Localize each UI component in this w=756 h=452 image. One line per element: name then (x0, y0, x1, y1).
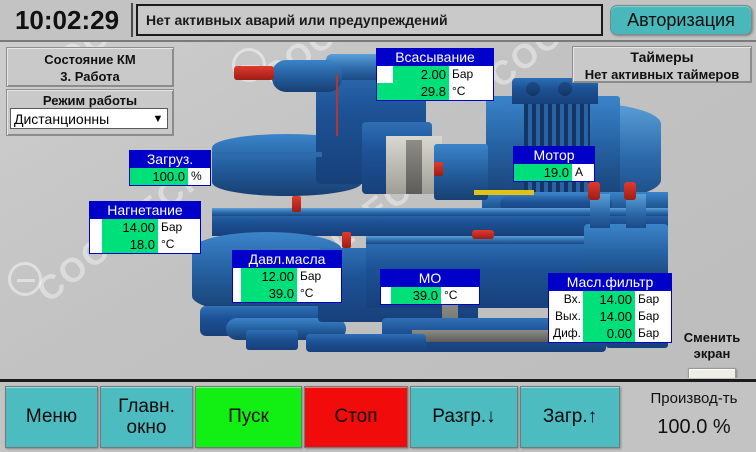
spacer (381, 287, 391, 304)
oil-filter-diff-unit: Бар (635, 325, 671, 342)
change-screen-label-line2: экран (672, 346, 752, 362)
spacer (233, 268, 241, 285)
panel-suction-row: 2.00 Бар (377, 66, 493, 83)
oil-temp-value: 39.0 (241, 285, 297, 302)
oil-filter-in-value: 14.00 (583, 291, 635, 308)
oil-pressure-value: 12.00 (241, 268, 297, 285)
panel-discharge-row: 18.0 °C (90, 236, 200, 253)
mode-title: Режим работы (7, 92, 173, 109)
alarm-status-text: Нет активных аварий или предупреждений (138, 12, 448, 28)
main-window-button[interactable]: Главн. окно (100, 386, 193, 448)
panel-suction-row: 29.8 °C (377, 83, 493, 100)
panel-discharge[interactable]: Нагнетание 14.00 Бар 18.0 °C (89, 201, 201, 254)
oil-filter-in-unit: Бар (635, 291, 671, 308)
panel-discharge-row: 14.00 Бар (90, 219, 200, 236)
timers-box: Таймеры Нет активных таймеров (572, 46, 752, 83)
mo-temp-unit: °C (441, 287, 479, 304)
spacer (90, 236, 102, 253)
panel-suction-title: Всасывание (377, 49, 493, 66)
panel-mo-row: 39.0 °C (381, 287, 479, 304)
authorization-button[interactable]: Авторизация (610, 5, 752, 35)
motor-current-value: 19.0 (514, 164, 572, 181)
spacer (233, 285, 241, 302)
oil-pressure-unit: Бар (297, 268, 341, 285)
load-button[interactable]: Загр.↑ (520, 386, 620, 448)
unload-button[interactable]: Разгр.↓ (410, 386, 518, 448)
panel-load-title: Загруз. (130, 151, 210, 168)
panel-load[interactable]: Загруз. 100.0 % (129, 150, 211, 186)
chevron-down-icon[interactable]: ▼ (149, 113, 167, 125)
compressor-state-value: 3. Работа (7, 68, 173, 85)
panel-motor-title: Мотор (514, 147, 594, 164)
panel-oil-pressure-row: 39.0 °C (233, 285, 341, 302)
panel-oil-filter-row: Вых. 14.00 Бар (549, 308, 671, 325)
capacity-readout: Производ-ть 100.0 % (636, 386, 752, 448)
panel-oil-pressure-title: Давл.масла (233, 251, 341, 268)
suction-temp-value: 29.8 (377, 83, 449, 100)
change-screen-label-line1: Сменить (672, 330, 752, 346)
discharge-temp-value: 18.0 (102, 236, 158, 253)
panel-load-row: 100.0 % (130, 168, 210, 185)
stop-button[interactable]: Стоп (304, 386, 408, 448)
panel-mo-title: МО (381, 270, 479, 287)
panel-oil-pressure[interactable]: Давл.масла 12.00 Бар 39.0 °C (232, 250, 342, 303)
discharge-pressure-unit: Бар (158, 219, 200, 236)
oil-filter-out-value: 14.00 (583, 308, 635, 325)
load-value: 100.0 (130, 168, 188, 185)
oil-filter-in-label: Вх. (549, 291, 583, 308)
panel-oil-filter-row: Вх. 14.00 Бар (549, 291, 671, 308)
compressor-state-box: Состояние КМ 3. Работа (6, 47, 174, 87)
mo-temp-value: 39.0 (391, 287, 441, 304)
capacity-value: 100.0 % (636, 412, 752, 442)
loop-arrow-icon (695, 377, 729, 378)
process-graphic-area: COOLTECH COOLTECH COOLTECH COOLTECH COOL… (0, 42, 756, 378)
timers-value: Нет активных таймеров (573, 66, 751, 83)
main-window-label-line1: Главн. (118, 396, 175, 417)
spacer (377, 66, 393, 83)
suction-temp-unit: °C (449, 83, 493, 100)
load-unit: % (188, 168, 210, 185)
menu-button[interactable]: Меню (5, 386, 98, 448)
oil-filter-diff-value: 0.00 (583, 325, 635, 342)
main-window-label-line2: окно (127, 417, 167, 438)
suction-pressure-unit: Бар (449, 66, 493, 83)
alarm-status-bar[interactable]: Нет активных аварий или предупреждений (136, 4, 603, 36)
change-screen-button[interactable] (688, 368, 736, 378)
clock-display: 10:02:29 (4, 4, 130, 36)
suction-pressure-value: 2.00 (393, 66, 449, 83)
panel-oil-filter[interactable]: Масл.фильтр Вх. 14.00 Бар Вых. 14.00 Бар… (548, 273, 672, 343)
oil-filter-out-unit: Бар (635, 308, 671, 325)
discharge-temp-unit: °C (158, 236, 200, 253)
header-divider (131, 3, 133, 37)
panel-motor-row: 19.0 A (514, 164, 594, 181)
bottom-button-bar: Меню Главн. окно Пуск Стоп Разгр.↓ Загр.… (0, 382, 756, 452)
hmi-screen: 10:02:29 Нет активных аварий или предупр… (0, 0, 756, 452)
discharge-pressure-value: 14.00 (102, 219, 158, 236)
timers-title: Таймеры (573, 48, 751, 66)
oil-filter-diff-label: Диф. (549, 325, 583, 342)
oil-temp-unit: °C (297, 285, 341, 302)
mode-select[interactable]: Дистанционны ▼ (10, 108, 168, 129)
compressor-state-title: Состояние КМ (7, 51, 173, 68)
spacer (90, 219, 102, 236)
start-button[interactable]: Пуск (195, 386, 302, 448)
panel-oil-pressure-row: 12.00 Бар (233, 268, 341, 285)
watermark-ring (8, 262, 42, 296)
panel-oil-filter-title: Масл.фильтр (549, 274, 671, 291)
panel-discharge-title: Нагнетание (90, 202, 200, 219)
panel-motor[interactable]: Мотор 19.0 A (513, 146, 595, 182)
header-bar: 10:02:29 Нет активных аварий или предупр… (0, 0, 756, 40)
change-screen-group: Сменить экран (672, 330, 752, 378)
panel-mo[interactable]: МО 39.0 °C (380, 269, 480, 305)
capacity-title: Производ-ть (636, 386, 752, 412)
panel-oil-filter-row: Диф. 0.00 Бар (549, 325, 671, 342)
motor-current-unit: A (572, 164, 594, 181)
oil-filter-out-label: Вых. (549, 308, 583, 325)
mode-select-value: Дистанционны (11, 111, 149, 127)
panel-suction[interactable]: Всасывание 2.00 Бар 29.8 °C (376, 48, 494, 101)
